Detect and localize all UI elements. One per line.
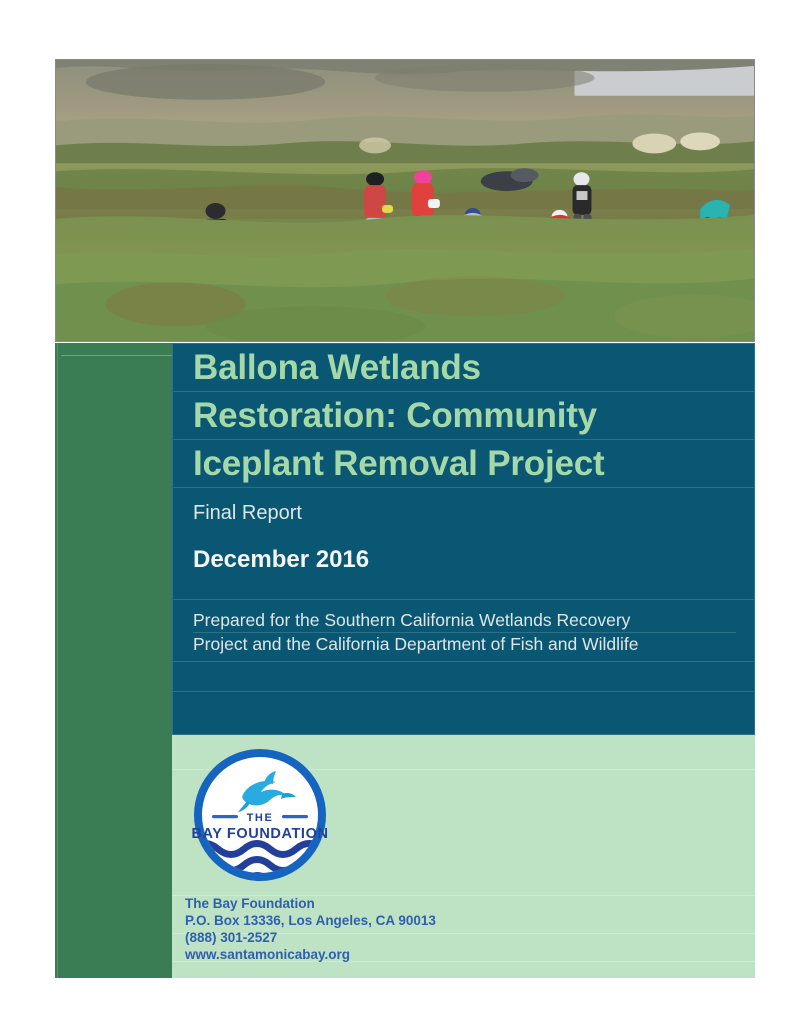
title-line-3: Iceplant Removal Project: [173, 440, 754, 488]
left-green-band: [55, 343, 172, 978]
title-line-2-text: Restoration: Community: [193, 396, 597, 436]
cover-photograph: [55, 59, 755, 342]
title-panel: Ballona Wetlands Restoration: Community …: [172, 343, 755, 735]
contact-organization: The Bay Foundation: [185, 895, 585, 912]
the-bay-foundation-logo: THE BAY FOUNDATION: [190, 745, 330, 885]
logo-artwork: THE BAY FOUNDATION: [190, 745, 330, 885]
contact-phone: (888) 301-2527: [185, 929, 585, 946]
report-type-text: Final Report: [193, 502, 302, 525]
green-band-horizontal-rule: [61, 355, 172, 356]
title-line-2: Restoration: Community: [173, 392, 754, 440]
report-date-row: December 2016: [173, 546, 754, 600]
contact-website[interactable]: www.santamonicabay.org: [185, 946, 585, 963]
panel-empty-row: [173, 662, 754, 692]
report-date-text: December 2016: [193, 546, 369, 574]
contact-block: The Bay Foundation P.O. Box 13336, Los A…: [185, 895, 585, 963]
contact-address: P.O. Box 13336, Los Angeles, CA 90013: [185, 912, 585, 929]
report-type-row: Final Report: [173, 488, 754, 546]
prepared-for-line-1: Prepared for the Southern California Wet…: [193, 609, 736, 633]
title-line-1-text: Ballona Wetlands: [193, 348, 481, 388]
prepared-for-row: Prepared for the Southern California Wet…: [173, 600, 754, 662]
cover-page: Ballona Wetlands Restoration: Community …: [0, 0, 791, 1024]
logo-the-word: THE: [247, 812, 274, 824]
panel-tail-row: [173, 692, 754, 738]
cover-photo-artwork: [56, 60, 754, 341]
title-line-1: Ballona Wetlands: [173, 344, 754, 392]
logo-wordmark: BAY FOUNDATION: [191, 826, 328, 842]
green-band-vertical-rule: [57, 343, 58, 978]
prepared-for-line-2: Project and the California Department of…: [193, 633, 639, 656]
title-line-3-text: Iceplant Removal Project: [193, 444, 604, 484]
